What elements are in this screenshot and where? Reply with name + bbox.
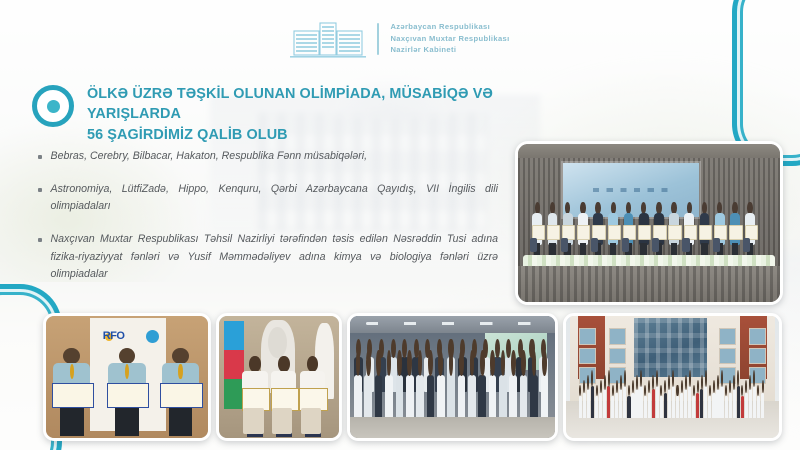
bullet-dot-icon xyxy=(38,188,42,192)
page-title: ÖLKƏ ÜZRƏ TƏŞKİL OLUNAN OLİMPİADA, MÜSAB… xyxy=(32,84,502,145)
title-line-2: 56 ŞAGİRDİMİZ QALİB OLUB xyxy=(87,127,288,143)
bullet-text: Naxçıvan Muxtar Respublikası Təhsil Nazi… xyxy=(51,231,499,282)
list-item: Astronomiya, LütfiZadə, Hippo, Kenquru, … xyxy=(38,181,498,215)
flag-bust-three-students-photo xyxy=(216,313,342,441)
government-building-emblem-icon xyxy=(290,19,366,59)
bullet-text: Astronomiya, LütfiZadə, Hippo, Kenquru, … xyxy=(51,181,499,215)
header-divider xyxy=(377,23,379,55)
bullet-dot-icon xyxy=(38,238,42,242)
title-line-1: ÖLKƏ ÜZRƏ TƏŞKİL OLUNAN OLİMPİADA, MÜSAB… xyxy=(87,86,493,122)
list-item: Bebras, Cerebry, Bilbacar, Hakaton, Resp… xyxy=(38,148,498,165)
header: Azərbaycan Respublikası Naxçıvan Muxtar … xyxy=(0,16,800,62)
bullet-list: Bebras, Cerebry, Bilbacar, Hakaton, Resp… xyxy=(38,148,498,299)
bullet-text: Bebras, Cerebry, Bilbacar, Hakaton, Resp… xyxy=(51,148,368,165)
indoor-group-photo xyxy=(347,313,558,441)
school-building-group-photo xyxy=(563,313,782,441)
bullet-dot-icon xyxy=(38,155,42,159)
title-text: ÖLKƏ ÜZRƏ TƏŞKİL OLUNAN OLİMPİADA, MÜSAB… xyxy=(87,84,502,145)
photo-content xyxy=(350,316,555,438)
photo-content xyxy=(518,144,780,302)
rfo-three-medalists-photo: RFO xyxy=(43,313,211,441)
photo-content xyxy=(566,316,779,438)
circle-marker-icon xyxy=(32,85,74,127)
award-ceremony-stage-photo xyxy=(515,141,783,305)
header-org-line-2: Naxçıvan Muxtar Respublikası xyxy=(390,34,509,45)
photo-content: RFO xyxy=(46,316,208,438)
header-org-name: Azərbaycan Respublikası Naxçıvan Muxtar … xyxy=(390,22,509,56)
header-org-line-1: Azərbaycan Respublikası xyxy=(390,22,509,33)
header-org-line-3: Nazirlər Kabineti xyxy=(390,45,509,56)
list-item: Naxçıvan Muxtar Respublikası Təhsil Nazi… xyxy=(38,231,498,282)
slide-root: Azərbaycan Respublikası Naxçıvan Muxtar … xyxy=(0,0,800,450)
photo-content xyxy=(219,316,339,438)
